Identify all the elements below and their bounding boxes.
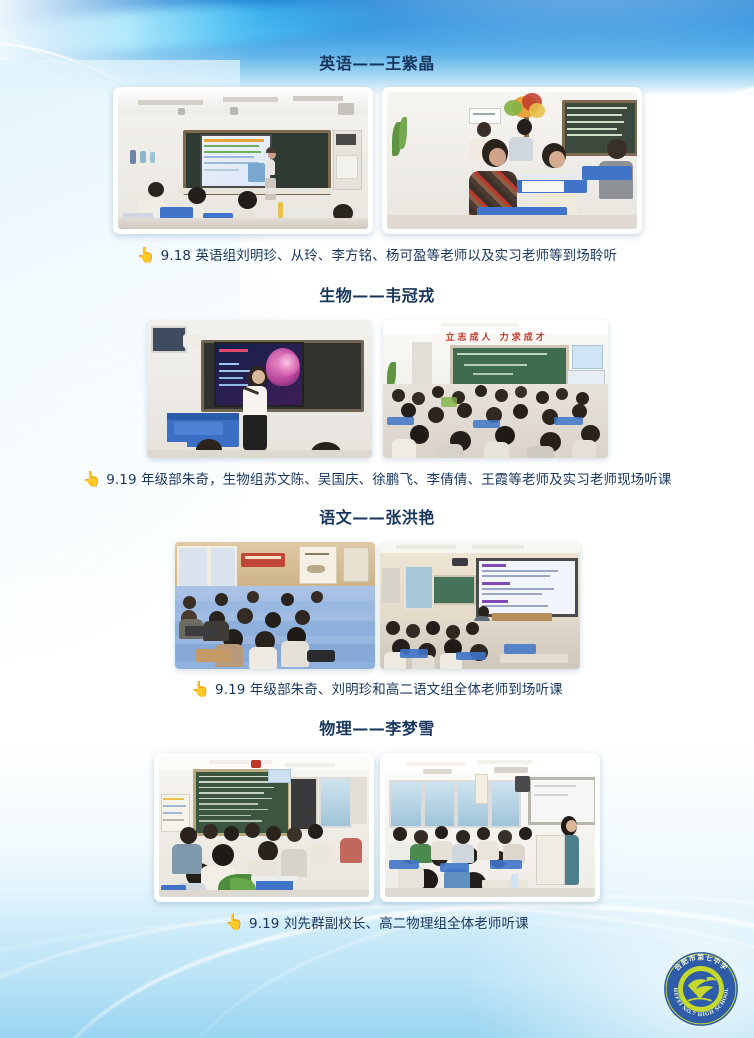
section-physics: 物理——李梦雪 [0,699,754,932]
section-heading-english: 英语——王紫晶 [0,56,754,72]
photo-chinese-2 [380,542,580,669]
caption-text-physics: 9.19 刘先群副校长、高二物理组全体老师听课 [249,916,529,932]
poster-page: 英语——王紫晶 [0,0,754,1038]
bottom-swoosh-4 [0,916,754,1038]
pointing-hand-icon: 👆 [83,472,102,487]
section-biology: 生物——韦冠戎 [0,264,754,488]
photo-biology-1 [147,320,372,458]
school-logo: 合肥市第七中学 HEFEI NO.7 HIGH SCHOOL [660,948,742,1030]
photo-physics-1 [154,753,374,902]
section-heading-biology: 生物——韦冠戎 [0,288,754,304]
photo-physics-2 [380,753,600,902]
section-chinese: 语文——张洪艳 [0,488,754,698]
pointing-hand-icon: 👆 [137,248,156,263]
photo-row-biology: 立志成人 力求成才 [0,320,754,458]
caption-physics: 👆 9.19 刘先群副校长、高二物理组全体老师听课 [0,916,754,932]
section-heading-chinese: 语文——张洪艳 [0,510,754,526]
photo-chinese-1 [175,542,375,669]
caption-text-biology: 9.19 年级部朱奇，生物组苏文陈、吴国庆、徐鹏飞、李倩倩、王霞等老师及实习老师… [106,472,671,488]
section-heading-physics: 物理——李梦雪 [0,721,754,737]
photo-row-chinese [0,542,754,669]
pointing-hand-icon: 👆 [191,682,210,697]
photo-biology-2: 立志成人 力求成才 [383,320,608,458]
caption-chinese: 👆 9.19 年级部朱奇、刘明珍和高二语文组全体老师到场听课 [0,682,754,698]
caption-text-chinese: 9.19 年级部朱奇、刘明珍和高二语文组全体老师到场听课 [215,682,563,698]
poster-content: 英语——王紫晶 [0,0,754,932]
section-english: 英语——王紫晶 [0,0,754,264]
classroom-banner: 立志成人 力求成才 [446,330,548,343]
photo-row-physics [0,753,754,902]
photo-english-1 [113,87,373,234]
caption-text-english: 9.18 英语组刘明珍、从玲、李方铭、杨可盈等老师以及实习老师等到场聆听 [161,248,617,264]
photo-row-english [0,87,754,234]
pointing-hand-icon: 👆 [225,915,244,930]
caption-english: 👆 9.18 英语组刘明珍、从玲、李方铭、杨可盈等老师以及实习老师等到场聆听 [0,248,754,264]
photo-english-2 [382,87,642,234]
caption-biology: 👆 9.19 年级部朱奇，生物组苏文陈、吴国庆、徐鹏飞、李倩倩、王霞等老师及实习… [0,472,754,488]
